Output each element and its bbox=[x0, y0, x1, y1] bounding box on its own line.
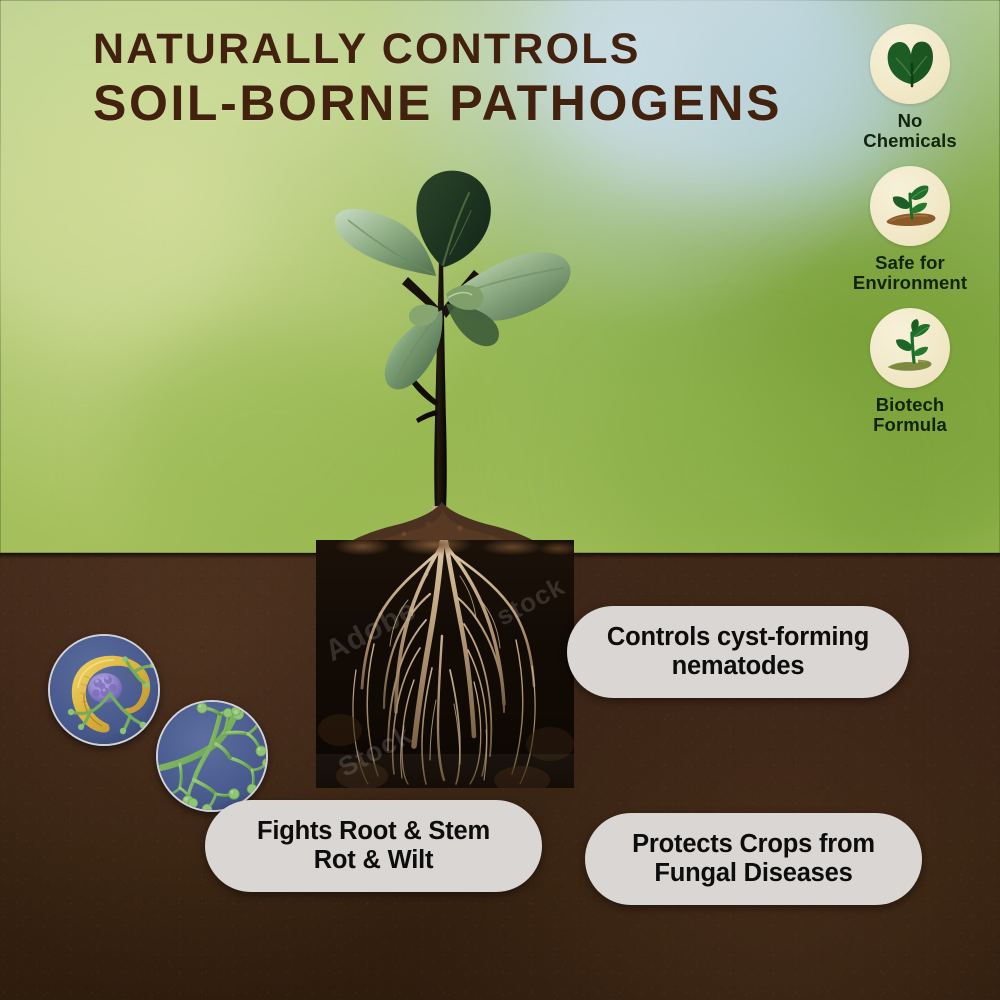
badge-no-chemicals[interactable]: No Chemicals bbox=[826, 24, 994, 150]
badge-safe-for-environment[interactable]: Safe for Environment bbox=[826, 166, 994, 292]
seedling-image bbox=[296, 158, 596, 558]
infographic-poster: Adobe stock Stock NATURALLY CONTROLS SOI… bbox=[0, 0, 1000, 1000]
soil-surface-crust bbox=[316, 540, 574, 560]
headline: NATURALLY CONTROLS SOIL-BORNE PATHOGENS bbox=[93, 28, 853, 128]
root-system-graphic bbox=[316, 540, 574, 788]
badge-disc bbox=[870, 308, 950, 388]
root-cross-section-image: Adobe stock Stock bbox=[316, 540, 574, 788]
seedling-biotech-icon bbox=[870, 308, 950, 388]
feature-pill-label: Fights Root & Stem Rot & Wilt bbox=[257, 817, 490, 874]
badge-disc bbox=[870, 24, 950, 104]
badge-label: No Chemicals bbox=[826, 111, 994, 150]
headline-line-2: SOIL-BORNE PATHOGENS bbox=[93, 78, 853, 128]
badge-biotech-formula[interactable]: Biotech Formula bbox=[826, 308, 994, 434]
feature-pill-nematodes[interactable]: Controls cyst-forming nematodes bbox=[567, 606, 909, 698]
badge-disc bbox=[870, 166, 950, 246]
feature-pill-label: Protects Crops from Fungal Diseases bbox=[632, 830, 875, 887]
two-leaves-icon bbox=[870, 24, 950, 104]
benefit-badge-list: No Chemicals Safe for Environment bbox=[826, 24, 994, 451]
feature-pill-rot-wilt[interactable]: Fights Root & Stem Rot & Wilt bbox=[205, 800, 542, 892]
headline-line-1: NATURALLY CONTROLS bbox=[93, 28, 853, 71]
micrograph-nematode-cyst bbox=[48, 634, 160, 746]
badge-label: Safe for Environment bbox=[826, 253, 994, 292]
micrograph-fungal-hyphae bbox=[156, 700, 268, 812]
feature-pill-label: Controls cyst-forming nematodes bbox=[607, 623, 869, 680]
badge-label: Biotech Formula bbox=[826, 395, 994, 434]
sprout-in-soil-icon bbox=[870, 166, 950, 246]
feature-pill-fungal-diseases[interactable]: Protects Crops from Fungal Diseases bbox=[585, 813, 922, 905]
